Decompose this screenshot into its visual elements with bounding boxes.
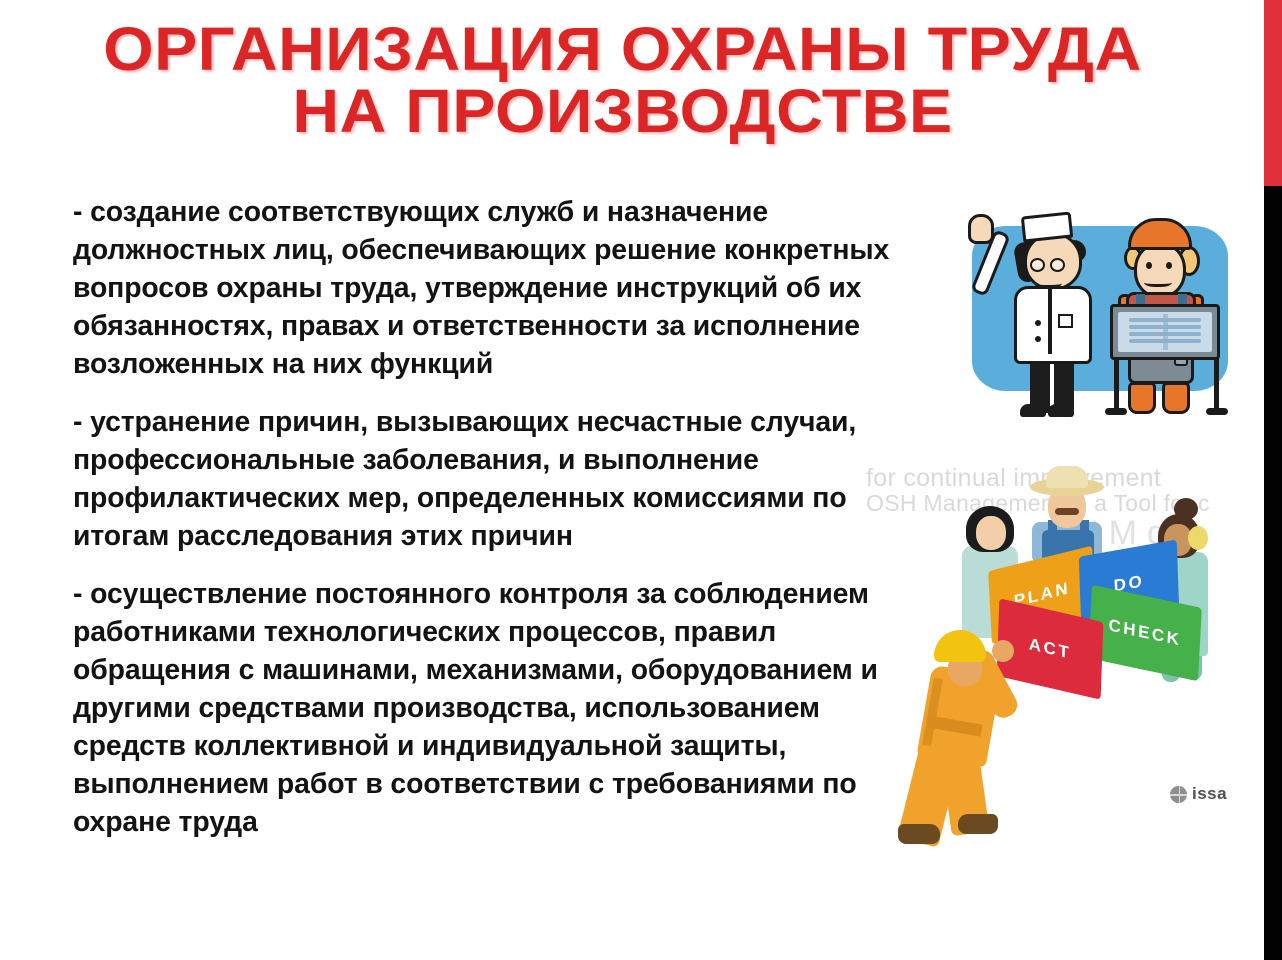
title-line-1: ОРГАНИЗАЦИЯ ОХРАНЫ ТРУДА	[0, 18, 1282, 80]
bullet-item-3: - осуществление постоянного контроля за …	[73, 575, 929, 841]
worker-eye-right	[1166, 262, 1172, 269]
doctor-coat-button-2	[1035, 336, 1041, 342]
bullet-list: - создание соответствующих служб и назна…	[73, 193, 933, 841]
xray-rib-1	[1129, 318, 1200, 322]
xray-stand-left	[1114, 356, 1119, 412]
right-edge-white-gap	[1259, 0, 1264, 960]
thumbs-up-icon	[968, 214, 994, 244]
title-line-2: НА ПРОИЗВОДСТВЕ	[0, 80, 1282, 142]
xray-stand-right	[1214, 356, 1219, 412]
figure-farmer-strap-right	[1080, 520, 1089, 540]
doctor-coat-lapel	[1048, 288, 1052, 354]
figure-woman-left-face	[976, 516, 1006, 550]
doctor-cap	[1021, 211, 1073, 242]
globe-icon	[1170, 786, 1187, 803]
doctor-white-coat	[1014, 286, 1092, 364]
doctor-shoe-right	[1048, 404, 1074, 417]
ear-protection-icon	[1188, 526, 1208, 550]
doctor-shoe-left	[1020, 404, 1046, 417]
worker-eye-left	[1146, 262, 1152, 269]
worker-head	[1134, 242, 1186, 298]
xray-image	[1118, 312, 1212, 352]
doctor-coat-button-1	[1035, 320, 1041, 326]
doctor-glasses-left-lens	[1030, 258, 1045, 272]
xray-screen-icon	[1110, 304, 1220, 360]
xray-foot-left	[1105, 408, 1127, 415]
illustration-doctor-and-worker	[938, 196, 1238, 436]
watermark-line-1: for continual improvement	[866, 464, 1161, 493]
presentation-slide: ОРГАНИЗАЦИЯ ОХРАНЫ ТРУДА НА ПРОИЗВОДСТВЕ…	[0, 0, 1282, 960]
issa-logo: issa	[1170, 784, 1227, 804]
bullet-item-1: - создание соответствующих служб и назна…	[73, 193, 929, 383]
figure-firefighter-boot-back	[898, 824, 940, 844]
watermark-line-2: OSH Management ... a Tool for c	[866, 490, 1210, 517]
page-title: ОРГАНИЗАЦИЯ ОХРАНЫ ТРУДА НА ПРОИЗВОДСТВЕ	[0, 18, 1245, 142]
figure-farmer-hat-crown	[1046, 466, 1088, 488]
right-edge-black-stripe	[1264, 186, 1282, 960]
bullet-item-2: - устранение причин, вызывающих несчастн…	[73, 403, 929, 555]
doctor-leg-gap	[1050, 364, 1054, 406]
illustration-pdca-puzzle: for continual improvement OSH Management…	[862, 462, 1254, 842]
hard-hat-icon	[1128, 218, 1192, 250]
xray-rib-2	[1129, 325, 1200, 329]
doctor-coat-pocket	[1058, 314, 1073, 328]
xray-rib-3	[1129, 332, 1200, 336]
figure-farmer-moustache	[1055, 508, 1079, 515]
figure-firefighter-hand	[992, 640, 1014, 662]
worker-boot-right	[1162, 382, 1190, 414]
xray-foot-right	[1206, 408, 1228, 415]
issa-logo-text: issa	[1192, 784, 1227, 804]
doctor-glasses-right-lens	[1050, 258, 1065, 272]
figure-firefighter-boot-front	[958, 814, 998, 834]
worker-boot-left	[1128, 382, 1156, 414]
worker-smile	[1144, 276, 1172, 287]
xray-rib-4	[1129, 339, 1200, 343]
